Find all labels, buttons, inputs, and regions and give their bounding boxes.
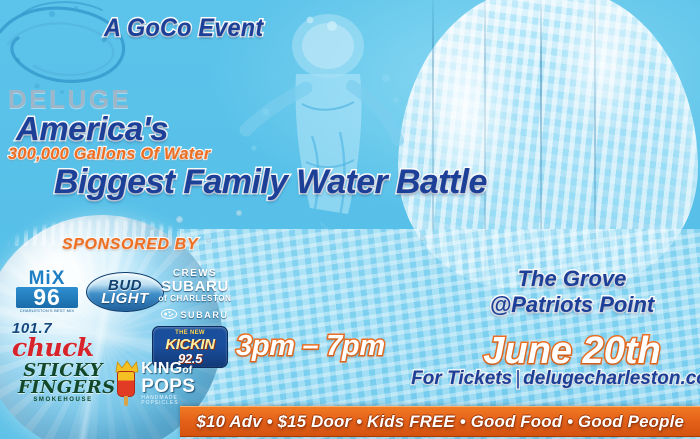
sponsors-heading: SPONSORED BY: [62, 236, 198, 254]
crews-line-2: SUBARU: [155, 279, 235, 294]
pricing-banner: $10 Adv • $15 Door • Kids FREE • Good Fo…: [180, 406, 700, 437]
tickets-label: For Tickets: [411, 368, 512, 389]
sponsor-logo-chuck: 101.7 chuck: [12, 322, 90, 360]
poster-content: A GoCo Event DELUGE America's 300,000 Ga…: [0, 0, 700, 439]
sponsor-logo-king-of-pops: KINGof POPS HANDMADE POPSICLES: [112, 360, 208, 406]
subaru-stars-icon: [161, 306, 177, 324]
popsicle-crown-icon: [112, 360, 138, 406]
mix96-tagline: CHARLESTON'S BEST MIX: [16, 308, 78, 314]
tickets-separator: |: [512, 368, 523, 389]
sponsor-logo-crews-subaru: CREWS SUBARU of CHARLESTON SUBARU: [155, 268, 235, 324]
venue-line-1: The Grove: [518, 266, 627, 292]
event-poster: A GoCo Event DELUGE America's 300,000 Ga…: [0, 0, 700, 439]
event-date: June 20th: [483, 330, 660, 373]
kingpops-of: of: [182, 365, 192, 376]
chuck-wordmark: chuck: [12, 336, 90, 360]
kingpops-line-1: KING: [141, 360, 182, 377]
sponsor-logo-sticky-fingers: STICKY FINGERS SMOKEHOUSE: [18, 362, 108, 405]
sponsor-logo-budlight: BUD LIGHT: [86, 272, 164, 312]
website-link[interactable]: delugecharleston.com: [523, 368, 700, 389]
event-time: 3pm – 7pm: [236, 330, 385, 363]
crews-line-3: of CHARLESTON: [155, 294, 235, 304]
sticky-line-2: FINGERS: [18, 379, 108, 396]
headline-line-1: America's: [16, 110, 168, 148]
kingpops-line-2: POPS: [141, 377, 208, 396]
subaru-badge-text: SUBARU: [180, 310, 228, 320]
tickets-line[interactable]: For Tickets|delugecharleston.com: [411, 368, 700, 390]
venue-line-2: @Patriots Point: [490, 292, 654, 318]
kingpops-sub: HANDMADE POPSICLES: [141, 396, 208, 406]
mix96-number: 96: [16, 287, 78, 308]
kickin-wordmark: KICKIN: [165, 337, 214, 352]
gallons-tagline: 300,000 Gallons Of Water: [8, 144, 211, 164]
pricing-banner-text: $10 Adv • $15 Door • Kids FREE • Good Fo…: [196, 412, 684, 432]
budlight-line-2: LIGHT: [101, 292, 149, 306]
presenter-label: A GoCo Event: [104, 14, 263, 43]
headline-line-2: Biggest Family Water Battle: [54, 163, 487, 202]
sponsor-logo-mix96: MiX 96 CHARLESTON'S BEST MIX: [16, 270, 78, 314]
